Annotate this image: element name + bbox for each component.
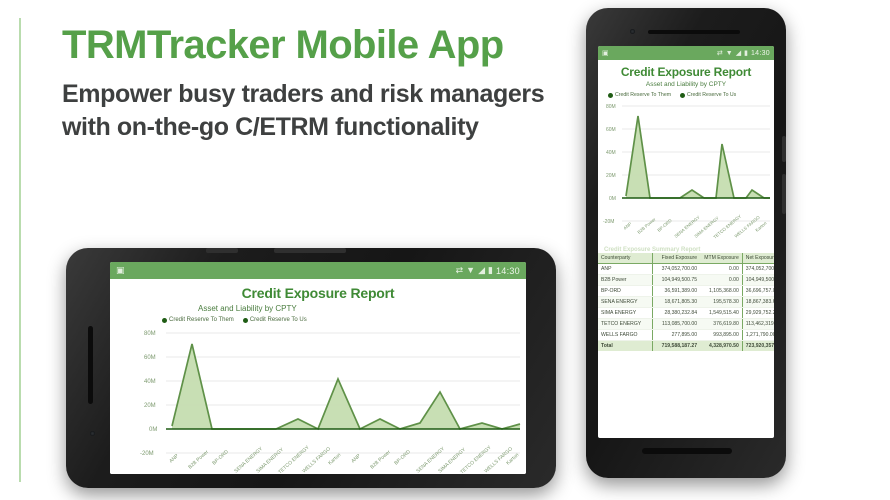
svg-text:-20M: -20M bbox=[140, 451, 154, 457]
svg-text:ANP: ANP bbox=[168, 453, 180, 465]
image-icon: ▣ bbox=[116, 266, 125, 275]
svg-text:60M: 60M bbox=[144, 355, 156, 361]
cell-counterparty: TETCO ENERGY bbox=[598, 319, 653, 330]
svg-text:20M: 20M bbox=[606, 173, 616, 179]
cell-fixed: 113,085,700.00 bbox=[653, 319, 701, 330]
svg-text:0M: 0M bbox=[149, 427, 157, 433]
report-title: Credit Exposure Report bbox=[110, 285, 526, 301]
report-card-landscape: Credit Exposure Report Asset and Liabili… bbox=[110, 279, 526, 474]
volume-button[interactable] bbox=[782, 174, 786, 214]
promo-banner: TRMTracker Mobile App Empower busy trade… bbox=[0, 0, 890, 500]
legend-dot-icon bbox=[680, 93, 685, 98]
cell-mtm: 0.00 bbox=[700, 275, 742, 286]
status-bar-clock: 14:30 bbox=[496, 266, 520, 276]
col-mtm-exposure[interactable]: MTM Exposure bbox=[700, 253, 742, 264]
report-subtitle: Asset and Liability by CPTY bbox=[110, 304, 526, 313]
cell-total-mtm: 4,328,970.50 bbox=[700, 341, 742, 352]
cell-mtm: 1,549,515.40 bbox=[700, 308, 742, 319]
svg-text:B2B Power: B2B Power bbox=[369, 449, 392, 470]
table-row[interactable]: ANP 374,052,700.00 0.00 374,052,700.00 bbox=[598, 264, 774, 275]
col-fixed-exposure[interactable]: Fixed Exposure bbox=[653, 253, 701, 264]
cell-mtm: 195,578.30 bbox=[700, 297, 742, 308]
cell-fixed: 18,671,805.30 bbox=[653, 297, 701, 308]
exposure-area-chart-landscape[interactable]: 80M 60M 40M 20M 0M -20M ANP B2B Power bbox=[110, 323, 526, 474]
svg-text:ANP: ANP bbox=[622, 221, 632, 231]
cell-mtm: 993,895.00 bbox=[700, 330, 742, 341]
usb-icon: ⇄ bbox=[456, 266, 464, 275]
svg-text:20M: 20M bbox=[144, 403, 156, 409]
report-card-portrait: Credit Exposure Report Asset and Liabili… bbox=[598, 60, 774, 351]
chart-svg: 80M 60M 40M 20M 0M -20M ANP B2B Power bbox=[110, 323, 526, 474]
phone-landscape-screen[interactable]: ▣ ⇄ ▼ ◢ ▮ 14:30 Credit Exposure Report A… bbox=[110, 262, 526, 474]
svg-text:60M: 60M bbox=[606, 127, 616, 133]
legend-dot-icon bbox=[608, 93, 613, 98]
cell-net: 18,867,383.60 bbox=[742, 297, 774, 308]
svg-text:40M: 40M bbox=[144, 379, 156, 385]
wifi-icon: ▼ bbox=[466, 266, 475, 275]
front-camera-icon bbox=[90, 431, 95, 436]
cell-counterparty: WELLS FARGO bbox=[598, 330, 653, 341]
status-bar: ▣ ⇄ ▼ ◢ ▮ 14:30 bbox=[110, 262, 526, 279]
chart-y-axis: 80M 60M 40M 20M 0M -20M bbox=[140, 331, 157, 457]
left-accent-rule bbox=[19, 18, 21, 482]
wifi-icon: ▼ bbox=[726, 50, 733, 57]
table-row[interactable]: BP-ORD 36,591,389.00 1,105,368.00 36,696… bbox=[598, 286, 774, 297]
legend-dot-icon bbox=[243, 318, 248, 323]
bottom-speaker bbox=[642, 448, 732, 454]
cell-net: 29,929,752.24 bbox=[742, 308, 774, 319]
cell-net: 36,696,757.00 bbox=[742, 286, 774, 297]
table-row[interactable]: SIMA ENERGY 28,380,232.84 1,549,515.40 2… bbox=[598, 308, 774, 319]
signal-icon: ◢ bbox=[478, 266, 485, 275]
table-row[interactable]: WELLS FARGO 277,895.00 993,895.00 1,271,… bbox=[598, 330, 774, 341]
table-row[interactable]: B2B Power 104,949,500.75 0.00 104,949,50… bbox=[598, 275, 774, 286]
svg-text:80M: 80M bbox=[606, 104, 616, 110]
page-title: TRMTracker Mobile App bbox=[62, 22, 582, 68]
report-subtitle: Asset and Liability by CPTY bbox=[598, 81, 774, 88]
svg-text:ANP: ANP bbox=[350, 453, 362, 465]
power-button[interactable] bbox=[782, 136, 786, 162]
svg-text:80M: 80M bbox=[144, 331, 156, 337]
phone-landscape: ▣ ⇄ ▼ ◢ ▮ 14:30 Credit Exposure Report A… bbox=[66, 248, 556, 488]
svg-text:BP-ORD: BP-ORD bbox=[656, 218, 672, 233]
chart-x-axis: ANP B2B Power BP-ORD SENA ENERGY SIMA EN… bbox=[168, 444, 520, 474]
cell-net: 374,052,700.00 bbox=[742, 264, 774, 275]
cell-fixed: 104,949,500.75 bbox=[653, 275, 701, 286]
cell-counterparty: SIMA ENERGY bbox=[598, 308, 653, 319]
front-camera-icon bbox=[630, 29, 635, 34]
table-row[interactable]: TETCO ENERGY 113,085,700.00 376,619.80 1… bbox=[598, 319, 774, 330]
phone-portrait-screen[interactable]: ▣ ⇄ ▼ ◢ ▮ 14:30 Credit Exposure Report A… bbox=[598, 46, 774, 438]
cell-counterparty: SENA ENERGY bbox=[598, 297, 653, 308]
cell-counterparty: BP-ORD bbox=[598, 286, 653, 297]
svg-text:BP-ORD: BP-ORD bbox=[393, 449, 412, 467]
svg-text:B2B Power: B2B Power bbox=[636, 216, 656, 234]
table-header-row: Counterparty Fixed Exposure MTM Exposure… bbox=[598, 253, 774, 264]
col-counterparty[interactable]: Counterparty bbox=[598, 253, 653, 264]
summary-caption: Credit Exposure Summary Report bbox=[598, 246, 774, 253]
chart-x-axis: ANP B2B Power BP-ORD SENA ENERGY SIMA EN… bbox=[622, 214, 768, 240]
table-row[interactable]: SENA ENERGY 18,671,805.30 195,578.30 18,… bbox=[598, 297, 774, 308]
battery-icon: ▮ bbox=[488, 266, 493, 275]
power-button[interactable] bbox=[206, 248, 238, 253]
status-bar: ▣ ⇄ ▼ ◢ ▮ 14:30 bbox=[598, 46, 774, 60]
svg-text:Karton: Karton bbox=[327, 452, 342, 466]
legend-dot-icon bbox=[162, 318, 167, 323]
volume-button[interactable] bbox=[274, 248, 346, 253]
image-icon: ▣ bbox=[602, 50, 609, 57]
table-body: ANP 374,052,700.00 0.00 374,052,700.00 B… bbox=[598, 264, 774, 352]
chart-svg: 80M 60M 40M 20M 0M -20M ANP bbox=[598, 98, 774, 246]
chart-y-axis: 80M 60M 40M 20M 0M -20M bbox=[603, 104, 616, 225]
cell-total-label: Total bbox=[598, 341, 653, 352]
svg-text:-20M: -20M bbox=[603, 219, 614, 225]
report-title: Credit Exposure Report bbox=[598, 65, 774, 79]
cell-fixed: 28,380,232.84 bbox=[653, 308, 701, 319]
page-tagline: Empower busy traders and risk managers w… bbox=[62, 78, 582, 144]
cell-fixed: 277,895.00 bbox=[653, 330, 701, 341]
cell-total-fixed: 719,588,187.27 bbox=[653, 341, 701, 352]
cell-fixed: 374,052,700.00 bbox=[653, 264, 701, 275]
chart-line-series bbox=[626, 116, 770, 198]
status-bar-clock: 14:30 bbox=[751, 50, 770, 57]
cell-net: 1,271,790.00 bbox=[742, 330, 774, 341]
cell-mtm: 0.00 bbox=[700, 264, 742, 275]
cell-net: 104,949,500.75 bbox=[742, 275, 774, 286]
cell-net: 113,462,319.80 bbox=[742, 319, 774, 330]
usb-icon: ⇄ bbox=[717, 50, 723, 57]
cell-counterparty: B2B Power bbox=[598, 275, 653, 286]
svg-text:0M: 0M bbox=[609, 196, 616, 202]
phone-portrait: ▣ ⇄ ▼ ◢ ▮ 14:30 Credit Exposure Report A… bbox=[586, 8, 786, 478]
earpiece-speaker bbox=[648, 30, 740, 34]
svg-text:Karton: Karton bbox=[754, 220, 768, 233]
table-total-row: Total 719,588,187.27 4,328,970.50 723,92… bbox=[598, 341, 774, 352]
cell-fixed: 36,591,389.00 bbox=[653, 286, 701, 297]
battery-icon: ▮ bbox=[744, 50, 748, 57]
cell-mtm: 1,105,368.00 bbox=[700, 286, 742, 297]
svg-text:BP-ORD: BP-ORD bbox=[211, 449, 230, 467]
earpiece-speaker bbox=[88, 326, 93, 404]
svg-text:B2B Power: B2B Power bbox=[187, 449, 210, 470]
col-net-exposure[interactable]: Net Exposure To Us bbox=[742, 253, 774, 264]
headline-block: TRMTracker Mobile App Empower busy trade… bbox=[62, 22, 582, 144]
cell-counterparty: ANP bbox=[598, 264, 653, 275]
signal-icon: ◢ bbox=[736, 50, 741, 57]
exposure-area-chart-portrait[interactable]: 80M 60M 40M 20M 0M -20M ANP bbox=[598, 98, 774, 246]
svg-text:40M: 40M bbox=[606, 150, 616, 156]
exposure-summary-table[interactable]: Counterparty Fixed Exposure MTM Exposure… bbox=[598, 253, 774, 351]
cell-total-net: 723,920,357.77 bbox=[742, 341, 774, 352]
cell-mtm: 376,619.80 bbox=[700, 319, 742, 330]
